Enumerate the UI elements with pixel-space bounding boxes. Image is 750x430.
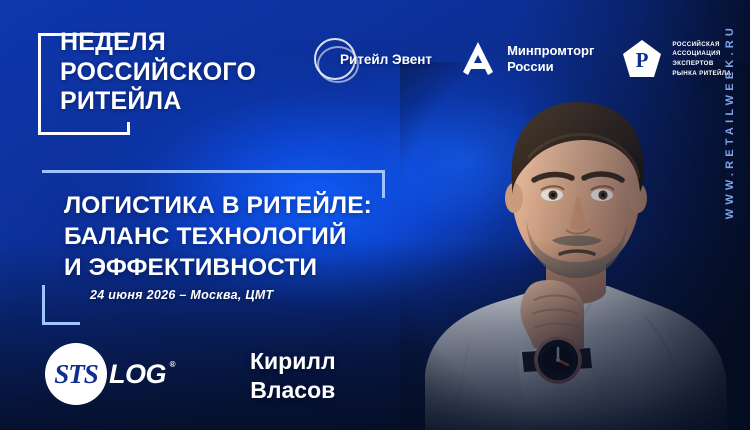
raer-line-2: АССОЦИАЦИЯ — [672, 49, 731, 59]
logo-retail-event: Ритейл Эвент — [312, 36, 432, 82]
minpromtorg-label: Минпромторг России — [507, 43, 594, 74]
raer-label: РОССИЙСКАЯ АССОЦИАЦИЯ ЭКСПЕРТОВ РЫНКА РИ… — [672, 40, 731, 78]
sts-word-text: LOG — [109, 359, 166, 389]
event-name: НЕДЕЛЯ РОССИЙСКОГО РИТЕЙЛА — [60, 28, 300, 117]
minpromtorg-triangle-icon — [458, 39, 498, 79]
sts-word-label: LOG ® — [109, 359, 166, 390]
retail-event-label: Ритейл Эвент — [340, 52, 432, 67]
event-banner: НЕДЕЛЯ РОССИЙСКОГО РИТЕЙЛА Ритейл Эвент … — [0, 0, 750, 430]
speaker-first-name: Кирилл — [250, 347, 336, 376]
registered-trademark-icon: ® — [170, 360, 175, 369]
minpromtorg-line-1: Минпромторг — [507, 43, 594, 59]
title-bracket-bottom-decoration — [42, 285, 80, 325]
raer-line-1: РОССИЙСКАЯ — [672, 40, 731, 50]
sts-badge-label: STS — [54, 361, 98, 388]
sponsor-logo-sts-log: STS LOG ® — [45, 343, 166, 405]
raer-line-3: ЭКСПЕРТОВ — [672, 59, 731, 69]
speaker-name: Кирилл Власов — [250, 347, 336, 404]
event-date-location: 24 июня 2026 – Москва, ЦМТ — [90, 288, 274, 302]
event-name-line-1: НЕДЕЛЯ — [60, 28, 300, 58]
logo-minpromtorg: Минпромторг России — [458, 39, 594, 79]
sts-badge-icon: STS — [45, 343, 107, 405]
minpromtorg-line-2: России — [507, 59, 594, 75]
header-bracket-tick — [127, 122, 130, 135]
session-title: ЛОГИСТИКА В РИТЕЙЛЕ: БАЛАНС ТЕХНОЛОГИЙ И… — [64, 190, 394, 283]
raer-line-4: РЫНКА РИТЕЙЛА — [672, 69, 731, 79]
event-name-line-3: РИТЕЙЛА — [60, 87, 300, 117]
speaker-last-name: Власов — [250, 376, 336, 405]
logo-raer: Р РОССИЙСКАЯ АССОЦИАЦИЯ ЭКСПЕРТОВ РЫНКА … — [620, 37, 731, 81]
raer-pentagon-icon: Р — [620, 37, 664, 81]
session-title-line-1: ЛОГИСТИКА В РИТЕЙЛЕ: — [64, 190, 394, 221]
partner-logo-row: Ритейл Эвент Минпромторг России Р — [312, 36, 731, 82]
svg-text:Р: Р — [636, 48, 649, 72]
session-title-line-3: И ЭФФЕКТИВНОСТИ — [64, 252, 394, 283]
event-name-line-2: РОССИЙСКОГО — [60, 58, 300, 88]
session-title-line-2: БАЛАНС ТЕХНОЛОГИЙ — [64, 221, 394, 252]
